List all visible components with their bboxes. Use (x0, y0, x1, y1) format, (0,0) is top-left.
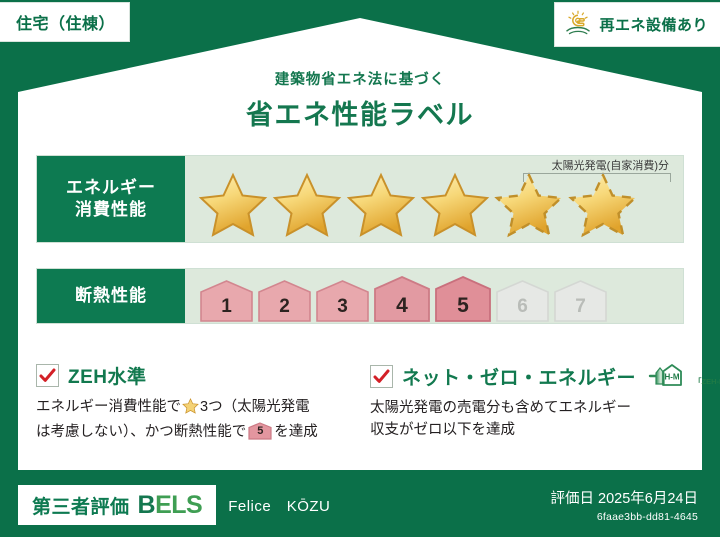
criteria-nze-title: ネット・ゼロ・エネルギー (402, 363, 636, 390)
energy-performance-row: エネルギー 消費性能 (36, 155, 684, 243)
insulation-grade-1-number: 1 (199, 296, 254, 318)
insulation-grade-scale: 1 2 3 4 (185, 269, 608, 323)
renewable-equipment-badge: 再エネ設備あり (554, 2, 720, 47)
star-filled-icon (197, 168, 269, 238)
bels-logo-els: ELS (155, 491, 202, 519)
label-subtitle: 建築物省エネ法に基づく (0, 68, 720, 89)
criteria-zeh-text-2: 3つ（太陽光発電 (200, 399, 310, 415)
criteria-zeh-text-4: を達成 (274, 424, 318, 440)
label-title: 省エネ性能ラベル (0, 93, 720, 132)
bels-logo-b: B (138, 491, 156, 519)
insulation-performance-body: 1 2 3 4 (185, 269, 683, 323)
evaluation-date: 評価日 2025年6月24日 (551, 487, 698, 508)
insulation-grade-4-number: 4 (373, 294, 431, 318)
criteria-nze-body: 太陽光発電の売電分も含めてエネルギー収支がゼロ以下を達成 (370, 397, 690, 442)
check-icon (370, 365, 393, 388)
insulation-grade-7: 7 (553, 279, 608, 323)
footer-right: 評価日 2025年6月24日 6faae3bb-dd81-4645 (551, 487, 698, 523)
insulation-grade-7-number: 7 (553, 296, 608, 318)
star-filled-icon (271, 168, 343, 238)
building-type-label: 住宅（住棟） (16, 16, 115, 33)
insulation-grade-4: 4 (373, 275, 431, 323)
energy-header-line1: エネルギー (66, 177, 156, 199)
criteria-zeh-level: ZEH水準 エネルギー消費性能で3つ（太陽光発電は考慮しない）、かつ断熱性能で5… (36, 362, 356, 444)
criteria-zeh-body: エネルギー消費性能で3つ（太陽光発電は考慮しない）、かつ断熱性能で5を達成 (36, 396, 356, 444)
insulation-performance-header: 断熱性能 (37, 269, 185, 323)
insulation-grade-5: 5 (434, 275, 492, 323)
insulation-grade-3: 3 (315, 279, 370, 323)
criteria-nze-text-line1: 太陽光発電の売電分も含めてエネルギー (370, 400, 631, 416)
criteria-nze-header: ネット・ゼロ・エネルギー H-M 「ZEH-M」 (370, 362, 690, 390)
pv-portion-caption: 太陽光発電(自家消費)分 (552, 157, 669, 173)
building-type-badge: 住宅（住棟） (0, 2, 130, 42)
renewable-equipment-label: 再エネ設備あり (599, 14, 708, 35)
bels-certification-mark: 第三者評価 BELS (18, 485, 216, 525)
insulation-grade-6: 6 (495, 279, 550, 323)
footer-left: 第三者評価 BELS Felice KŌZU (18, 485, 330, 525)
label-title-block: 建築物省エネ法に基づく 省エネ性能ラベル (0, 68, 720, 132)
insulation-header-label: 断熱性能 (75, 285, 147, 307)
star-filled-icon (419, 168, 491, 238)
evaluation-id: 6faae3bb-dd81-4645 (551, 511, 698, 523)
criteria-zeh-header: ZEH水準 (36, 362, 356, 389)
energy-performance-body: 太陽光発電(自家消費)分 (185, 156, 683, 242)
criteria-zeh-grade-number: 5 (248, 423, 272, 440)
zeh-m-mark-label: 「ZEH-M」 (694, 376, 720, 390)
bels-logo: BELS (138, 493, 203, 518)
energy-performance-label: 住宅（住棟） 再エネ設備あり 建築物省エネ法に基づく 省エネ性能ラベル エネルギ… (0, 0, 720, 537)
insulation-grade-6-number: 6 (495, 296, 550, 318)
project-name: Felice KŌZU (228, 495, 330, 516)
criteria-zeh-title: ZEH水準 (68, 362, 147, 389)
check-icon (36, 364, 59, 387)
criteria-net-zero-energy: ネット・ゼロ・エネルギー H-M 「ZEH-M」 (370, 362, 690, 442)
pv-portion-bracket (523, 173, 671, 182)
solar-sun-icon (563, 8, 593, 41)
insulation-grade-1: 1 (199, 279, 254, 323)
criteria-zeh-text-3: は考慮しない）、かつ断熱性能で (36, 424, 246, 440)
insulation-grade-3-number: 3 (315, 296, 370, 318)
third-party-eval-label: 第三者評価 (32, 492, 130, 519)
insulation-performance-row: 断熱性能 1 2 (36, 268, 684, 324)
insulation-grade-inline-icon: 5 (248, 422, 272, 440)
insulation-grade-5-number: 5 (434, 294, 492, 318)
energy-header-line2: 消費性能 (75, 199, 147, 221)
insulation-grade-2: 2 (257, 279, 312, 323)
star-small-icon (182, 402, 199, 418)
insulation-grade-2-number: 2 (257, 296, 312, 318)
star-filled-icon (345, 168, 417, 238)
energy-performance-header: エネルギー 消費性能 (37, 156, 185, 242)
criteria-zeh-text-1: エネルギー消費性能で (36, 399, 181, 415)
criteria-nze-text-line2: 収支がゼロ以下を達成 (370, 422, 515, 438)
zeh-m-house-text: H-M (664, 373, 679, 382)
zeh-m-mark: H-M 「ZEH-M」 (647, 362, 720, 390)
